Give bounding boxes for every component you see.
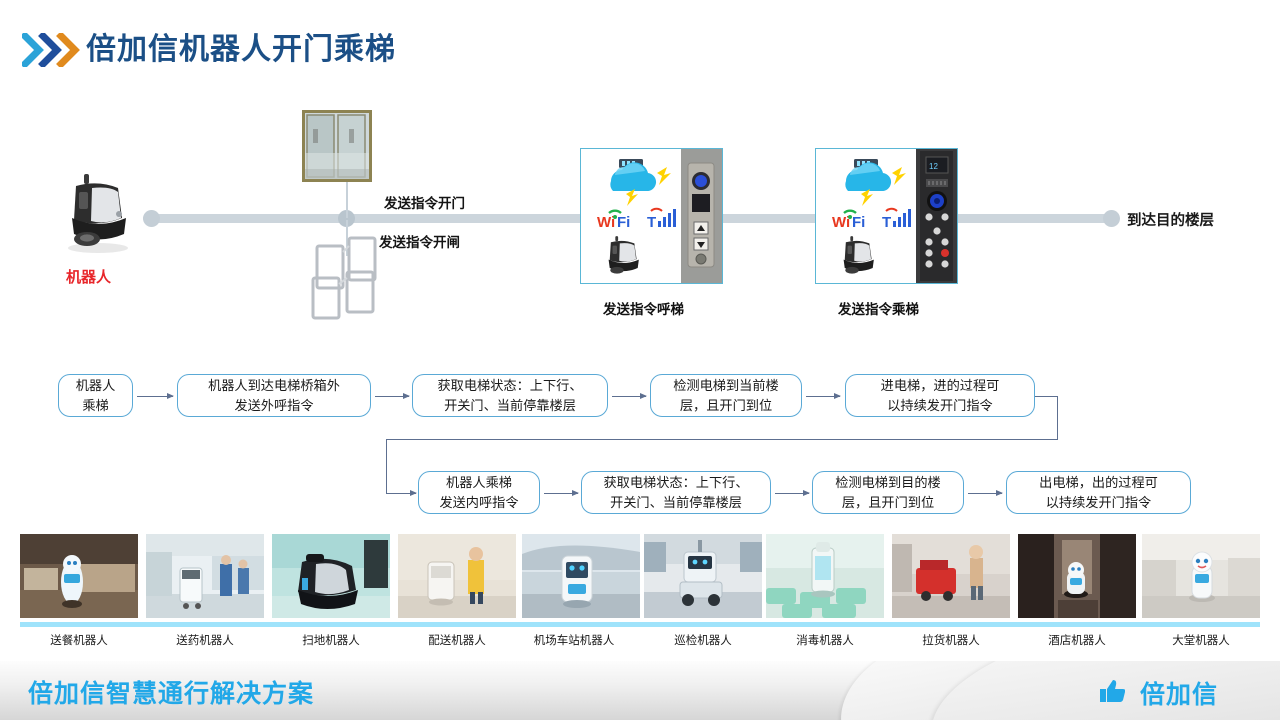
svg-text:T: T xyxy=(647,214,656,231)
gallery-caption-7: 拉货机器人 xyxy=(892,632,1010,648)
flow-box-r1-4[interactable]: 检测电梯到当前楼层，且开门到位 xyxy=(650,374,802,417)
robot-gallery xyxy=(0,534,1280,620)
flow-wrap-segment-across xyxy=(386,439,1058,440)
footer-brand: 倍加信 xyxy=(1140,675,1218,711)
flow-box-r2-1[interactable]: 机器人乘梯发送内呼指令 xyxy=(418,471,540,514)
flow-box-r1-1[interactable]: 机器人乘梯 xyxy=(58,374,133,417)
slide-footer: 倍加信智慧通行解决方案 倍加信 xyxy=(0,661,1280,720)
svg-text:Wi: Wi xyxy=(597,214,615,231)
flow-box-r2-4[interactable]: 出电梯，出的过程可以持续发开门指令 xyxy=(1006,471,1191,514)
gallery-item-2[interactable] xyxy=(272,534,390,618)
gallery-separator xyxy=(20,622,1260,627)
gallery-caption-9: 大堂机器人 xyxy=(1142,632,1260,648)
flow-arrow-r2-2 xyxy=(775,493,809,494)
gallery-item-7[interactable] xyxy=(892,534,1010,618)
flow-arrow-r1-3 xyxy=(612,396,646,397)
flow-box-r2-2[interactable]: 获取电梯状态：上下行、开关门、当前停靠楼层 xyxy=(581,471,771,514)
gallery-caption-2: 扫地机器人 xyxy=(272,632,390,648)
gallery-caption-5: 巡检机器人 xyxy=(644,632,762,648)
elevator-hall-call-node: Wi Fi T xyxy=(580,148,723,284)
gallery-caption-0: 送餐机器人 xyxy=(20,632,138,648)
flow-box-r1-3[interactable]: 获取电梯状态：上下行、开关门、当前停靠楼层 xyxy=(412,374,608,417)
gallery-item-5[interactable] xyxy=(644,534,762,618)
gallery-caption-4: 机场车站机器人 xyxy=(515,632,633,648)
flow-arrow-r1-2 xyxy=(375,396,409,397)
command-label-open-gate: 发送指令开闸 xyxy=(379,231,460,251)
gallery-item-9[interactable] xyxy=(1142,534,1260,618)
flow-arrow-r1-1 xyxy=(137,396,173,397)
elevator-car-node: Wi Fi T xyxy=(815,148,958,284)
thumbs-up-icon xyxy=(1099,679,1125,703)
timeline-branch-up xyxy=(346,182,348,218)
gallery-caption-3: 配送机器人 xyxy=(398,632,516,648)
slide-root: 倍加信机器人开门乘梯 机器人 xyxy=(0,0,1280,720)
gallery-item-1[interactable] xyxy=(146,534,264,618)
slide-header: 倍加信机器人开门乘梯 xyxy=(0,0,1280,86)
gallery-item-4[interactable] xyxy=(522,534,640,618)
turnstile-gate-image xyxy=(307,232,387,324)
gallery-captions: 送餐机器人 送药机器人 扫地机器人 配送机器人 机场车站机器人 巡检机器人 消毒… xyxy=(0,632,1280,654)
flow-box-r1-5[interactable]: 进电梯，进的过程可以持续发开门指令 xyxy=(845,374,1035,417)
flow-wrap-segment-down-right xyxy=(1057,396,1058,440)
page-title: 倍加信机器人开门乘梯 xyxy=(86,24,396,68)
gallery-item-0[interactable] xyxy=(20,534,138,618)
robot-label: 机器人 xyxy=(66,266,111,287)
automatic-door-image xyxy=(302,110,372,182)
gallery-item-3[interactable] xyxy=(398,534,516,618)
flow-wrap-segment-down-left xyxy=(386,439,387,494)
flow-wrap-segment-right xyxy=(1035,396,1058,397)
flow-arrow-r1-4 xyxy=(806,396,840,397)
svg-text:T: T xyxy=(882,214,891,231)
robot-image xyxy=(62,170,134,254)
footer-title: 倍加信智慧通行解决方案 xyxy=(28,674,314,710)
gallery-caption-1: 送药机器人 xyxy=(146,632,264,648)
gallery-item-8[interactable] xyxy=(1018,534,1136,618)
gallery-item-6[interactable] xyxy=(766,534,884,618)
gallery-caption-6: 消毒机器人 xyxy=(766,632,884,648)
flow-box-r2-3[interactable]: 检测电梯到目的楼层，且开门到位 xyxy=(812,471,964,514)
flow-wrap-arrow-into-row2 xyxy=(386,493,416,494)
chevron-logo xyxy=(22,33,84,67)
node-caption-call-elevator: 发送指令呼梯 xyxy=(603,298,684,318)
node-caption-ride-elevator: 发送指令乘梯 xyxy=(838,298,919,318)
command-label-open-door: 发送指令开门 xyxy=(384,192,465,212)
flow-box-r1-2[interactable]: 机器人到达电梯桥箱外发送外呼指令 xyxy=(177,374,371,417)
flow-arrow-r2-1 xyxy=(544,493,578,494)
svg-text:Fi: Fi xyxy=(617,214,630,231)
svg-text:Wi: Wi xyxy=(832,214,850,231)
gallery-caption-8: 酒店机器人 xyxy=(1018,632,1136,648)
svg-text:Fi: Fi xyxy=(852,214,865,231)
flow-arrow-r2-3 xyxy=(968,493,1002,494)
timeline-dot-start xyxy=(143,210,160,227)
timeline-end-label: 到达目的楼层 xyxy=(1127,209,1214,230)
timeline-dot-end xyxy=(1103,210,1120,227)
svg-text:12: 12 xyxy=(929,162,938,171)
